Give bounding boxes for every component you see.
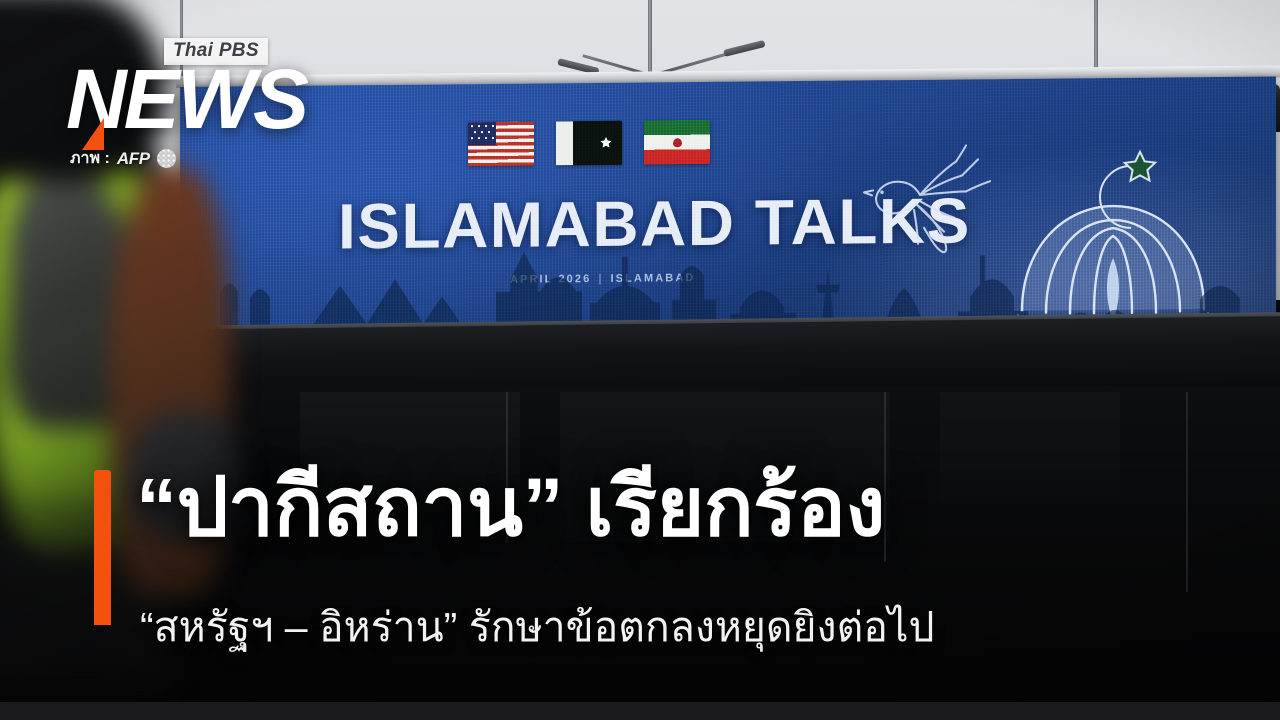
afp-wordmark: AFP [117, 149, 150, 169]
billboard-screen: ISLAMABAD TALKS APRIL 2026|ISLAMABAD [180, 76, 1276, 345]
flag-united-states-icon [468, 122, 534, 167]
thaipbs-news-logo: Thai PBS NEWS ภาพ : AFP [66, 34, 326, 164]
page-title: “ปากีสถาน” เรียกร้อง [136, 462, 1256, 554]
bottom-bar [0, 702, 1280, 720]
overpass-deck [150, 316, 1280, 396]
page-subtitle: “สหรัฐฯ – อิหร่าน” รักษาข้อตกลงหยุดยิงต่… [140, 602, 1280, 653]
flag-iran-icon [644, 120, 710, 165]
news-card: ISLAMABAD TALKS APRIL 2026|ISLAMABAD [0, 0, 1280, 720]
flag-pakistan-icon [556, 121, 622, 166]
headline-block: “ปากีสถาน” เรียกร้อง “สหรัฐฯ – อิหร่าน” … [0, 440, 1280, 680]
headline-accent-bar [94, 470, 111, 625]
photo-credit-label: ภาพ : [70, 146, 110, 171]
flag-row [468, 120, 710, 166]
photo-credit: ภาพ : AFP [70, 146, 176, 171]
afp-globe-icon [157, 149, 176, 168]
